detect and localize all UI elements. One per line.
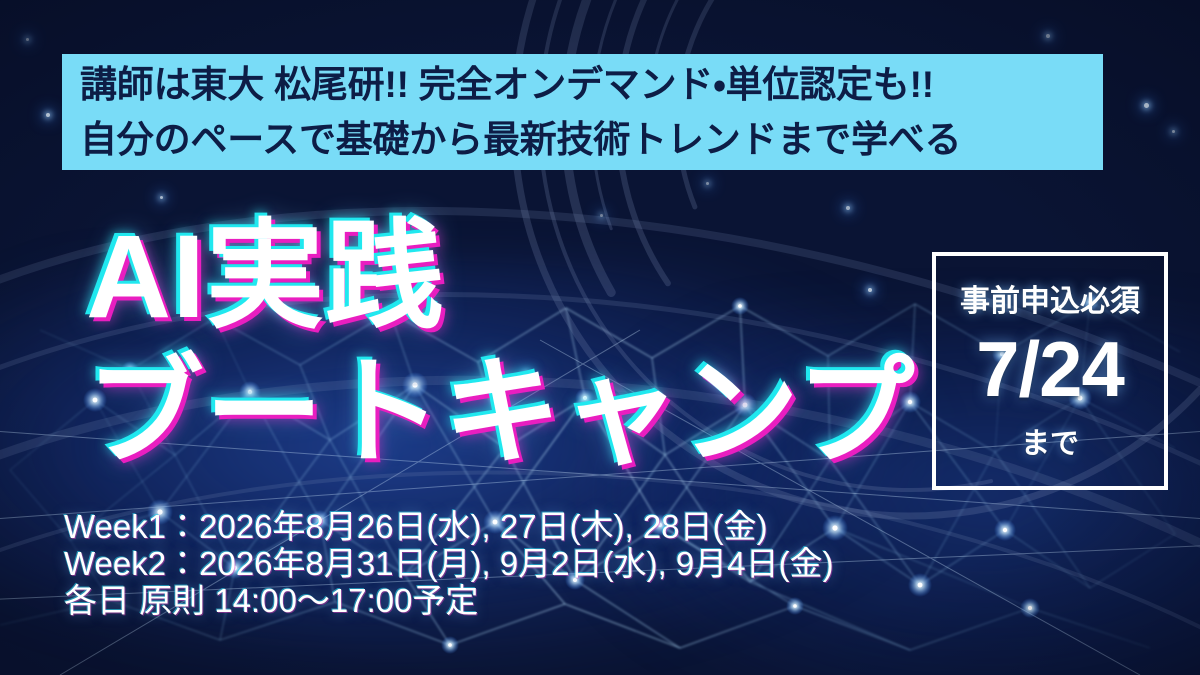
banner-line-1: 講師は東大 松尾研!! 完全オンデマンド・単位認定も!! <box>80 57 1087 112</box>
badge-requirement-label: 事前申込必須 <box>960 276 1140 320</box>
header-banner: 講師は東大 松尾研!! 完全オンデマンド・単位認定も!! 自分のペースで基礎から… <box>62 54 1103 170</box>
deadline-badge: 事前申込必須 7/24 まで <box>932 252 1168 490</box>
banner-line-2: 自分のペースで基礎から最新技術トレンドまで学べる <box>80 112 1087 167</box>
schedule-week1: Week1：2026年8月26日(水), 27日(木), 28日(金) <box>64 508 834 545</box>
title-line-2: ブートキャンプ <box>86 354 915 472</box>
page-title: AI実践 ブートキャンプ <box>86 218 915 472</box>
title-line-1: AI実践 <box>86 218 915 336</box>
schedule-daily-time: 各日 原則 14:00〜17:00予定 <box>64 582 834 619</box>
badge-until-label: まで <box>1021 420 1079 462</box>
promo-banner-canvas: 講師は東大 松尾研!! 完全オンデマンド・単位認定も!! 自分のペースで基礎から… <box>0 0 1200 675</box>
schedule-week2: Week2：2026年8月31日(月), 9月2日(水), 9月4日(金) <box>64 545 834 582</box>
schedule-block: Week1：2026年8月26日(水), 27日(木), 28日(金) Week… <box>64 508 834 619</box>
badge-deadline-date: 7/24 <box>976 330 1124 408</box>
